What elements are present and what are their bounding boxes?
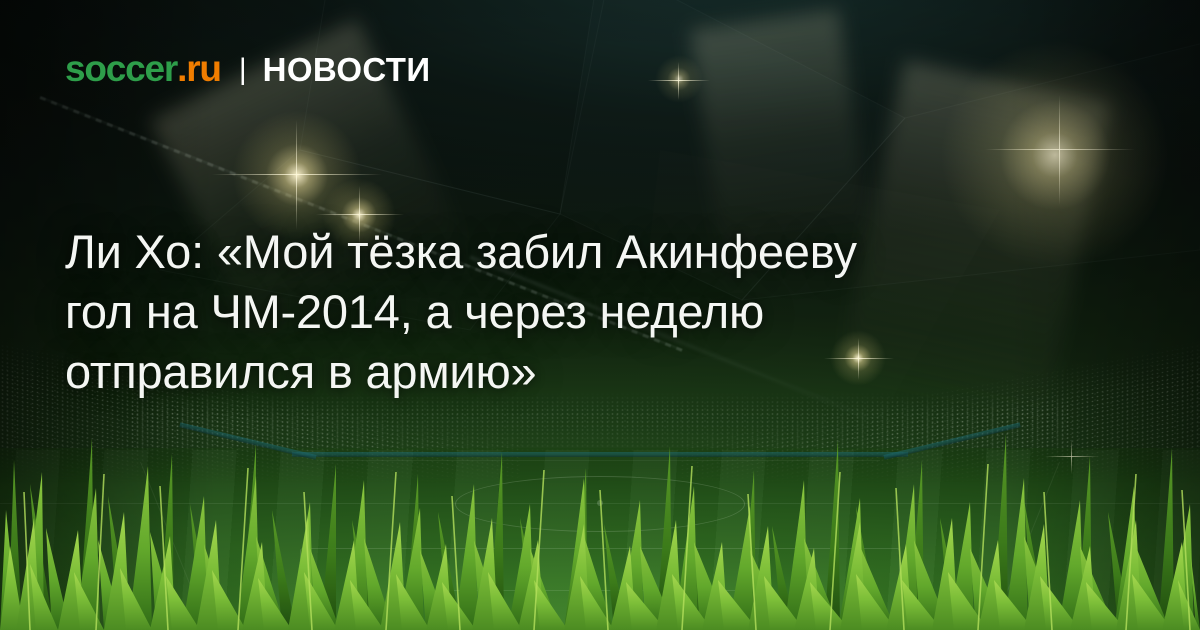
logo-separator: | <box>239 55 247 85</box>
headline-line-2: гол на ЧМ-2014, а через неделю <box>65 285 764 338</box>
section-label-news: НОВОСТИ <box>263 53 431 86</box>
grass-foreground <box>0 400 1200 630</box>
logo-text-soccer: soccer <box>65 50 177 87</box>
article-headline: Ли Хо: «Мой тёзка забил Акинфееву гол на… <box>65 222 1130 402</box>
headline-line-1: Ли Хо: «Мой тёзка забил Акинфееву <box>65 225 857 278</box>
site-logo[interactable]: soccer .ru | НОВОСТИ <box>65 50 430 87</box>
headline-line-3: отправился в армию» <box>65 345 536 398</box>
floodlight-star-4 <box>985 95 1135 205</box>
logo-text-tld: .ru <box>177 50 221 87</box>
news-share-card: soccer .ru | НОВОСТИ Ли Хо: «Мой тёзка з… <box>0 0 1200 630</box>
floodlight-star-5 <box>648 62 710 100</box>
